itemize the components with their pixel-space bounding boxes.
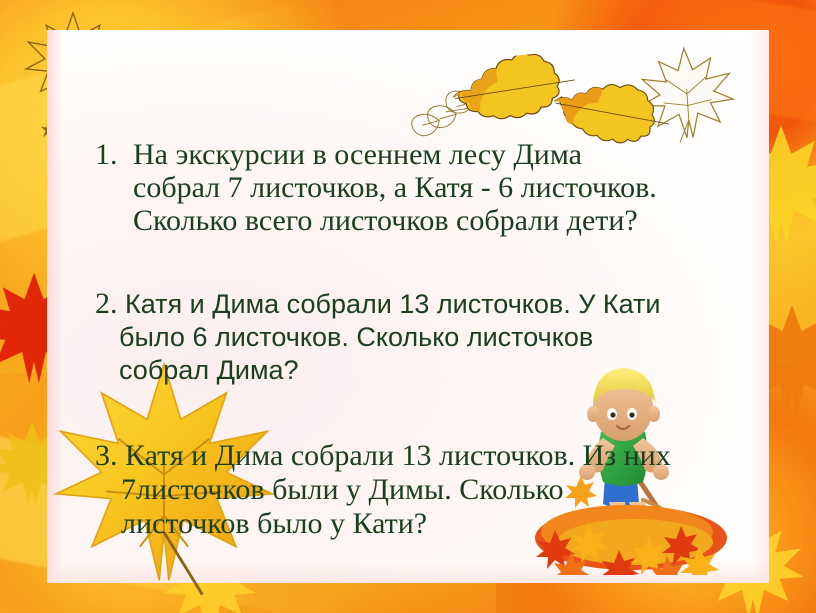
question-3-line-1-text: Катя и Дима собрали 13 листочков. Из них — [125, 439, 671, 472]
content-panel: 1.На экскурсии в осеннем лесу Дима собра… — [47, 30, 769, 583]
question-3-line-3: листочков было у Кати? — [121, 507, 747, 541]
question-2-line-1-text: Катя и Дима собрали 13 листочков. У Кати — [125, 289, 660, 319]
question-3: 3. Катя и Дима собрали 13 листочков. Из … — [95, 439, 747, 541]
questions-container: 1.На экскурсии в осеннем лесу Дима собра… — [95, 138, 747, 541]
question-2: 2. Катя и Дима собрали 13 листочков. У К… — [95, 287, 747, 387]
question-2-line-1: 2. Катя и Дима собрали 13 листочков. У К… — [119, 287, 747, 321]
slide-canvas: 1.На экскурсии в осеннем лесу Дима собра… — [0, 0, 816, 613]
panel-edge-bottom — [47, 561, 769, 583]
question-3-line-1: 3. Катя и Дима собрали 13 листочков. Из … — [121, 439, 747, 473]
question-2-line-2: было 6 листочков. Сколько листочков — [119, 321, 747, 354]
question-1-number: 1. — [95, 138, 133, 171]
panel-edge-right — [751, 30, 769, 583]
question-3-line-2: 7листочков были у Димы. Сколько — [121, 473, 747, 507]
maple-leaf-outline-icon-right — [630, 38, 745, 149]
question-2-line-3: собрал Дима? — [119, 354, 747, 387]
question-2-number: 2. — [95, 287, 118, 320]
question-1-line-1: На экскурсии в осеннем лесу Дима — [133, 138, 582, 171]
oak-leaf-icon-upper — [443, 49, 587, 131]
question-1: 1.На экскурсии в осеннем лесу Дима собра… — [95, 138, 747, 237]
question-3-number: 3. — [95, 439, 118, 472]
question-1-line-3: Сколько всего листочков собрали дети? — [133, 204, 747, 237]
panel-edge-left — [47, 30, 63, 583]
question-1-line-2: собрал 7 листочков, а Катя - 6 листочков… — [133, 171, 747, 204]
